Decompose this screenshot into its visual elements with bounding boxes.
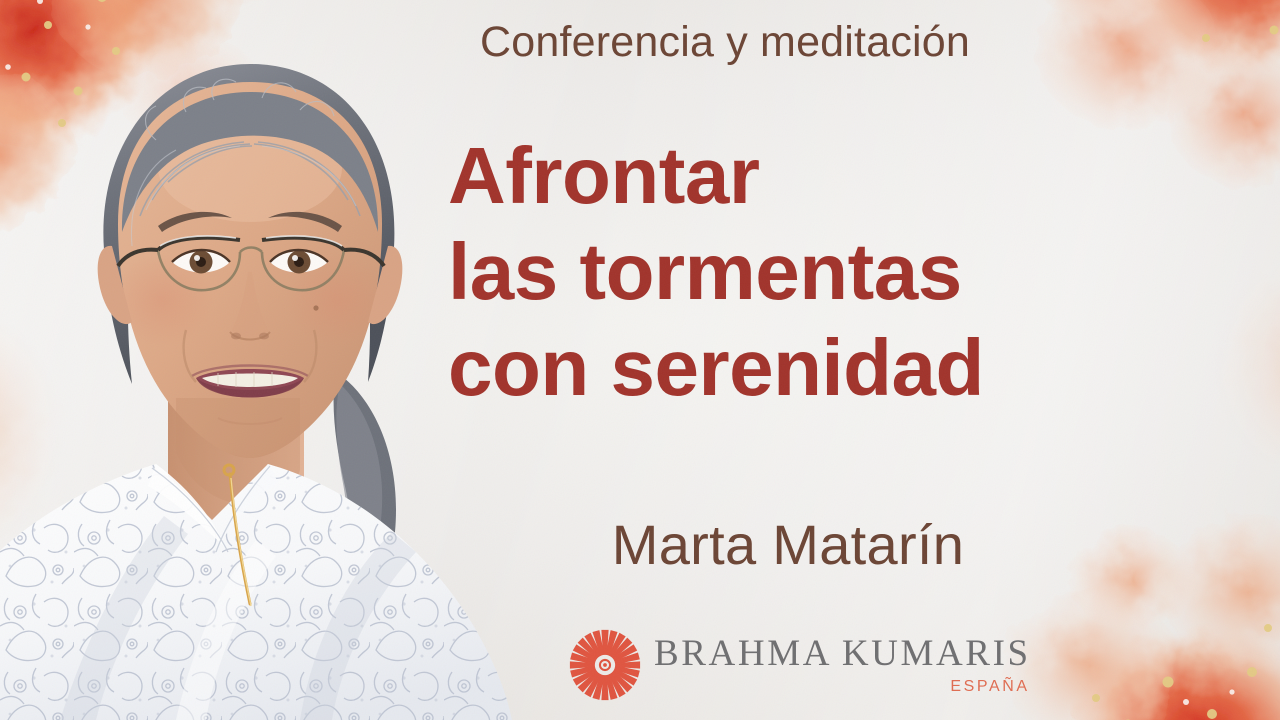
brahma-kumaris-logo: BRAHMA KUMARIS ESPAÑA xyxy=(566,624,956,706)
logo-subtitle: ESPAÑA xyxy=(950,679,1029,695)
title-line-2: las tormentas xyxy=(448,232,1128,312)
logo-name: BRAHMA KUMARIS xyxy=(654,635,1031,672)
sunburst-icon xyxy=(566,626,644,704)
slide-canvas: Conferencia y meditación Afrontar las to… xyxy=(0,0,1280,720)
title-line-3: con serenidad xyxy=(448,328,1128,408)
page-title: Afrontar las tormentas con serenidad xyxy=(448,136,1128,424)
speaker-name: Marta Matarín xyxy=(448,512,1128,577)
logo-wordmark: BRAHMA KUMARIS ESPAÑA xyxy=(654,635,1031,695)
title-line-1: Afrontar xyxy=(448,136,1128,216)
kicker-text: Conferencia y meditación xyxy=(0,18,1280,67)
